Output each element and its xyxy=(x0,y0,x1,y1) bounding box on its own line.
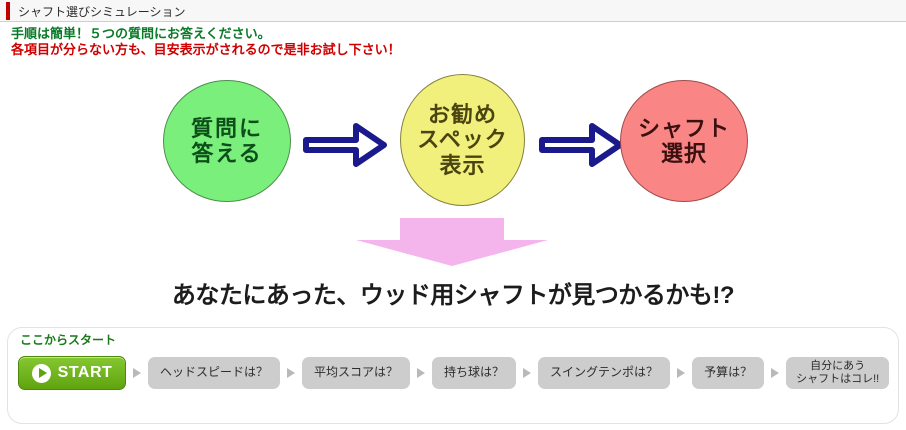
step-button-budget[interactable]: 予算は？ xyxy=(692,357,764,389)
flow-circle-spec-line-1: お勧め xyxy=(428,102,497,127)
triangle-right-icon-1 xyxy=(133,368,141,378)
steps-row: START ヘッドスピードは？ 平均スコアは？ 持ち球は？ スイングテンポは？ … xyxy=(18,355,889,391)
flow-circle-spec-line-2: スペック xyxy=(417,127,507,152)
triangle-right-icon-6 xyxy=(771,368,779,378)
step-button-swing-tempo-label: スイングテンポは？ xyxy=(550,366,658,380)
step-button-average-score-label: 平均スコアは？ xyxy=(314,366,398,380)
flow-circle-question: 質問に 答える xyxy=(163,80,291,202)
step-button-head-speed-label: ヘッドスピードは？ xyxy=(160,366,268,380)
flow-circle-select: シャフト 選択 xyxy=(620,80,748,202)
flow-circle-spec-line-3: 表示 xyxy=(439,153,485,178)
step-button-average-score[interactable]: 平均スコアは？ xyxy=(302,357,410,389)
flow-diagram: 質問に 答える お勧め スペック 表示 シャフト 選択 xyxy=(0,72,906,212)
triangle-right-icon-4 xyxy=(523,368,531,378)
triangle-right-icon-3 xyxy=(417,368,425,378)
step-button-budget-label: 予算は？ xyxy=(704,366,752,380)
step-button-result-label-1: 自分にあう xyxy=(810,360,865,373)
step-button-ball-flight-label: 持ち球は？ xyxy=(444,366,504,380)
start-button[interactable]: START xyxy=(18,356,126,390)
step-button-result[interactable]: 自分にあう シャフトはコレ!! xyxy=(786,357,889,389)
start-button-label: START xyxy=(58,364,113,382)
flow-circle-question-line-1: 質問に xyxy=(191,116,263,141)
flow-arrow-right-icon-1 xyxy=(302,120,388,175)
flow-circle-spec: お勧め スペック 表示 xyxy=(400,74,525,206)
step-button-ball-flight[interactable]: 持ち球は？ xyxy=(432,357,516,389)
titlebar-accent-bar xyxy=(6,2,10,20)
page-title: シャフト選びシミュレーション xyxy=(18,3,186,20)
triangle-right-icon-5 xyxy=(677,368,685,378)
lead-copy: 手順は簡単！５つの質問にお答えください。 各項目が分らない方も、目安表示がされる… xyxy=(11,26,401,58)
flow-arrow-down-icon xyxy=(352,218,552,271)
lead-line-2: 各項目が分らない方も、目安表示がされるので是非お試し下さい！ xyxy=(11,42,401,58)
flow-circle-select-line-2: 選択 xyxy=(661,141,707,166)
step-button-head-speed[interactable]: ヘッドスピードは？ xyxy=(148,357,280,389)
titlebar: シャフト選びシミュレーション xyxy=(0,0,906,22)
flow-circle-select-line-1: シャフト xyxy=(638,116,730,141)
step-button-result-label-2: シャフトはコレ!! xyxy=(796,373,879,386)
start-here-label: ここからスタート xyxy=(20,331,116,348)
flow-circle-question-line-2: 答える xyxy=(191,141,262,166)
shaft-simulation-page: シャフト選びシミュレーション 手順は簡単！５つの質問にお答えください。 各項目が… xyxy=(0,0,906,430)
start-panel: ここからスタート START ヘッドスピードは？ 平均スコアは？ 持ち球は？ ス… xyxy=(8,328,898,423)
lead-line-1: 手順は簡単！５つの質問にお答えください。 xyxy=(11,26,401,42)
flow-arrow-right-icon-2 xyxy=(538,120,624,175)
play-icon xyxy=(32,364,51,383)
step-button-swing-tempo[interactable]: スイングテンポは？ xyxy=(538,357,670,389)
tagline: あなたにあった、ウッド用シャフトが見つかるかも!? xyxy=(0,275,906,310)
triangle-right-icon-2 xyxy=(287,368,295,378)
